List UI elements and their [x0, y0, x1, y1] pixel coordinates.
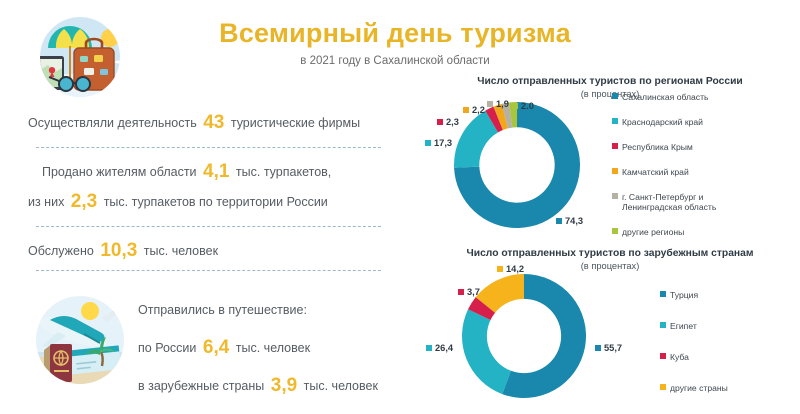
- legend-item[interactable]: Республика Крым: [612, 142, 716, 152]
- fact-value: 4,1: [200, 161, 232, 182]
- divider-2: [36, 226, 381, 227]
- chart-regions-label-2: 2,3: [437, 117, 459, 127]
- label-swatch-icon: [437, 119, 443, 125]
- chart-countries-label-2: 3,7: [458, 287, 480, 297]
- travel-facts-block: Отправились в путешествие: по России 6,4…: [138, 292, 428, 405]
- legend-item[interactable]: другие страны: [660, 383, 728, 393]
- page-title: Всемирный день туризма: [185, 18, 605, 49]
- legend-label: г. Санкт-Петербург и Ленинградская облас…: [622, 192, 716, 212]
- fact-text: тыс. человек: [140, 244, 218, 258]
- chart-regions-label-4: 1,9: [487, 99, 509, 109]
- pie-slice: [462, 309, 511, 394]
- suitcase-beach-umbrella-icon: [22, 12, 134, 102]
- label-swatch-icon: [425, 140, 431, 146]
- fact-text: тыс. турпакетов по территории России: [100, 195, 328, 209]
- chart-countries-label-0: 55,7: [595, 343, 622, 353]
- legend-item[interactable]: Камчатский край: [612, 167, 716, 177]
- chart-countries-label-1: 26,4: [426, 343, 453, 353]
- legend-swatch-icon: [660, 291, 666, 297]
- fact-text: тыс. человек: [300, 379, 378, 393]
- legend-item[interactable]: Турция: [660, 290, 728, 300]
- chart-regions-title: Число отправленных туристов по регионам …: [440, 76, 780, 87]
- fact-value: 2,3: [68, 191, 100, 212]
- fact-text: тыс. человек: [232, 341, 310, 355]
- legend-label: Сахалинская область: [622, 92, 709, 102]
- chart-regions-donut: [452, 100, 582, 230]
- facts-block: Осуществляли деятельность 43 туристическ…: [28, 108, 413, 280]
- fact-text: туристические фирмы: [227, 116, 360, 130]
- chart-regions-subtitle: (в процентах): [440, 89, 780, 99]
- legend-label: Краснодарский край: [622, 117, 703, 127]
- legend-swatch-icon: [660, 322, 666, 328]
- legend-item[interactable]: другие регионы: [612, 227, 716, 237]
- label-swatch-icon: [426, 345, 432, 351]
- label-swatch-icon: [556, 218, 562, 224]
- legend-label: Египет: [670, 321, 697, 331]
- legend-swatch-icon: [612, 168, 618, 174]
- legend-label: Камчатский край: [622, 167, 689, 177]
- legend-swatch-icon: [660, 384, 666, 390]
- legend-item[interactable]: г. Санкт-Петербург и Ленинградская облас…: [612, 192, 716, 212]
- fact-travel-abroad: в зарубежные страны 3,9 тыс. человек: [138, 367, 428, 405]
- fact-text: Обслужено: [28, 244, 97, 258]
- legend-swatch-icon: [612, 93, 618, 99]
- fact-text: Осуществляли деятельность: [28, 116, 200, 130]
- legend-swatch-icon: [612, 228, 618, 234]
- fact-text: из них: [28, 195, 68, 209]
- legend-item[interactable]: Куба: [660, 352, 728, 362]
- fact-firms: Осуществляли деятельность 43 туристическ…: [28, 108, 413, 138]
- chart-regions-label-1: 17,3: [425, 138, 452, 148]
- label-swatch-icon: [497, 266, 503, 272]
- fact-value: 43: [200, 112, 227, 133]
- fact-text: по России: [138, 341, 200, 355]
- legend-label: Республика Крым: [622, 142, 693, 152]
- chart-regions-label-5: 2.0: [512, 101, 534, 111]
- chart-countries-label-3: 14,2: [497, 264, 524, 274]
- chart-countries-title: Число отправленных туристов по зарубежны…: [430, 248, 790, 259]
- fact-packages-russia: из них 2,3 тыс. турпакетов по территории…: [28, 187, 413, 217]
- legend-swatch-icon: [612, 143, 618, 149]
- page-subtitle: в 2021 году в Сахалинской области: [185, 55, 605, 67]
- legend-label: Турция: [670, 290, 698, 300]
- legend-label: другие страны: [670, 383, 728, 393]
- fact-text: Продано жителям области: [42, 165, 200, 179]
- fact-travel-russia: по России 6,4 тыс. человек: [138, 329, 428, 367]
- airplane-passport-icon: [28, 290, 132, 390]
- fact-text: тыс. турпакетов,: [232, 165, 331, 179]
- label-swatch-icon: [458, 289, 464, 295]
- fact-travel-heading: Отправились в путешествие:: [138, 292, 428, 329]
- label-swatch-icon: [487, 101, 493, 107]
- legend-item[interactable]: Краснодарский край: [612, 117, 716, 127]
- infographic-page: Всемирный день туризма в 2021 году в Сах…: [0, 0, 800, 414]
- fact-value: 3,9: [268, 375, 300, 396]
- chart-regions-label-3: 2,2: [463, 105, 485, 115]
- fact-text: в зарубежные страны: [138, 379, 268, 393]
- legend-label: Куба: [670, 352, 689, 362]
- fact-value: 10,3: [97, 240, 140, 261]
- fact-text: Отправились в путешествие:: [138, 303, 307, 317]
- fact-served: Обслужено 10,3 тыс. человек: [28, 236, 413, 266]
- chart-countries-legend: ТурцияЕгипетКубадругие страны: [660, 290, 728, 414]
- label-swatch-icon: [595, 345, 601, 351]
- legend-swatch-icon: [612, 193, 618, 199]
- chart-regions-legend: Сахалинская областьКраснодарский крайРес…: [612, 92, 716, 252]
- fact-value: 6,4: [200, 337, 232, 358]
- label-swatch-icon: [512, 103, 518, 109]
- chart-countries-subtitle: (в процентах): [430, 261, 790, 271]
- divider-3: [36, 270, 381, 271]
- legend-swatch-icon: [660, 353, 666, 359]
- divider-1: [36, 147, 381, 148]
- chart-regions-label-0: 74,3: [556, 216, 583, 226]
- label-swatch-icon: [463, 107, 469, 113]
- legend-item[interactable]: Сахалинская область: [612, 92, 716, 102]
- legend-label: другие регионы: [622, 227, 684, 237]
- legend-item[interactable]: Египет: [660, 321, 728, 331]
- legend-swatch-icon: [612, 118, 618, 124]
- fact-packages-sold: Продано жителям области 4,1 тыс. турпаке…: [28, 157, 413, 187]
